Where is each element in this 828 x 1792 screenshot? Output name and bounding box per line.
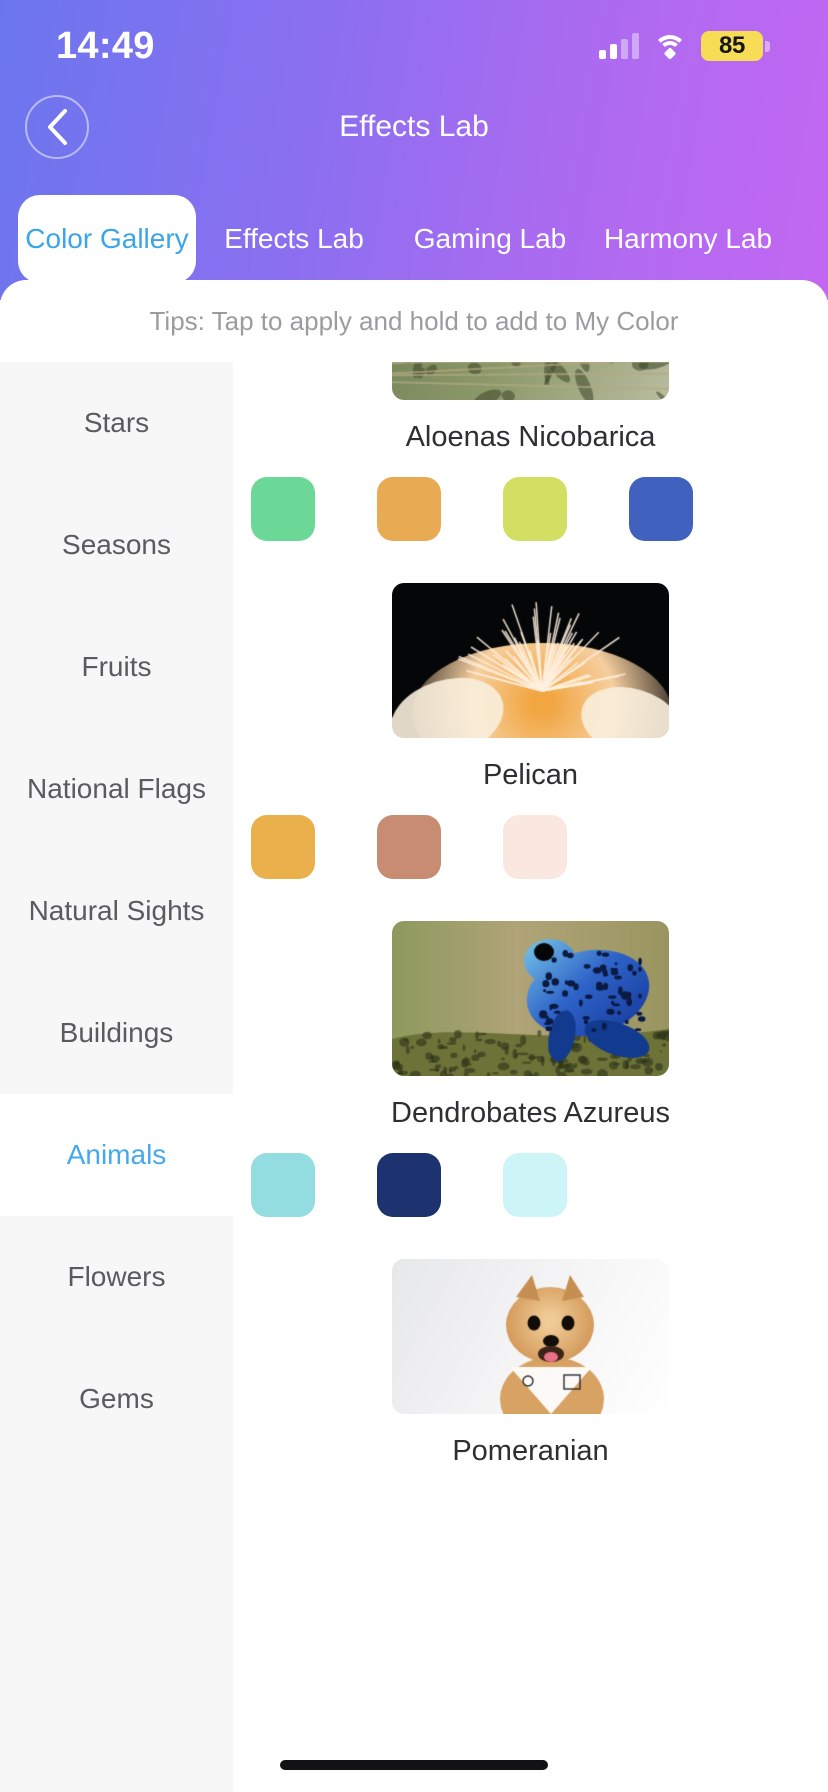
sidebar-item-natural-sights[interactable]: Natural Sights: [0, 850, 233, 972]
wifi-icon: [653, 33, 687, 59]
nav-bar: Effects Lab: [0, 95, 828, 163]
color-swatch[interactable]: [629, 477, 693, 541]
status-indicators: 85: [599, 31, 770, 61]
sidebar-item-gems[interactable]: Gems: [0, 1338, 233, 1460]
home-indicator: [280, 1760, 548, 1770]
tips-text: Tips: Tap to apply and hold to add to My…: [0, 280, 828, 362]
thumbnail-clip: [233, 362, 828, 400]
battery-percent: 85: [719, 32, 745, 60]
palette-name: Aloenas Nicobarica: [233, 421, 828, 454]
sidebar-item-national-flags[interactable]: National Flags: [0, 728, 233, 850]
color-swatch[interactable]: [251, 815, 315, 879]
color-swatch[interactable]: [377, 477, 441, 541]
tab-color-gallery[interactable]: Color Gallery: [18, 195, 196, 283]
sidebar-item-animals[interactable]: Animals: [0, 1094, 233, 1216]
palette-group-dendrobates-azureus: Dendrobates Azureus: [233, 921, 828, 1217]
color-swatch[interactable]: [503, 815, 567, 879]
content-sheet: Tips: Tap to apply and hold to add to My…: [0, 280, 828, 1792]
battery-icon: 85: [701, 31, 770, 61]
blue-poison-dart-frog-photo[interactable]: [392, 921, 669, 1076]
color-swatch[interactable]: [503, 477, 567, 541]
swatch-row: [233, 1153, 828, 1217]
cellular-signal-icon: [599, 33, 639, 59]
sidebar-item-stars[interactable]: Stars: [0, 362, 233, 484]
color-swatch[interactable]: [377, 815, 441, 879]
status-clock: 14:49: [56, 25, 155, 68]
tab-effects-lab[interactable]: Effects Lab: [196, 195, 392, 283]
palette-name: Pelican: [233, 759, 828, 792]
gallery-body: Stars Seasons Fruits National Flags Natu…: [0, 362, 828, 1792]
tab-bar: Color Gallery Effects Lab Gaming Lab Har…: [0, 195, 828, 283]
sidebar-item-flowers[interactable]: Flowers: [0, 1216, 233, 1338]
palette-list[interactable]: Aloenas Nicobarica Pelican: [233, 362, 828, 1792]
color-swatch[interactable]: [251, 477, 315, 541]
pomeranian-dog-photo[interactable]: [392, 1259, 669, 1414]
palette-name: Dendrobates Azureus: [233, 1097, 828, 1130]
color-swatch[interactable]: [251, 1153, 315, 1217]
palette-group-pomeranian: Pomeranian: [233, 1259, 828, 1468]
tab-gaming-lab[interactable]: Gaming Lab: [392, 195, 588, 283]
sidebar-item-buildings[interactable]: Buildings: [0, 972, 233, 1094]
palette-group-aloenas-nicobarica: Aloenas Nicobarica: [233, 362, 828, 541]
color-swatch[interactable]: [503, 1153, 567, 1217]
color-swatch[interactable]: [377, 1153, 441, 1217]
palette-group-pelican: Pelican: [233, 583, 828, 879]
page-title: Effects Lab: [0, 95, 828, 159]
swatch-row: [233, 477, 828, 541]
category-sidebar[interactable]: Stars Seasons Fruits National Flags Natu…: [0, 362, 233, 1792]
swatch-row: [233, 815, 828, 879]
nicobar-pigeon-photo[interactable]: [392, 362, 669, 400]
sidebar-item-seasons[interactable]: Seasons: [0, 484, 233, 606]
pelican-photo[interactable]: [392, 583, 669, 738]
status-bar: 14:49 85: [0, 0, 828, 92]
tab-harmony-lab[interactable]: Harmony Lab: [588, 195, 788, 283]
palette-name: Pomeranian: [233, 1435, 828, 1468]
app-header: 14:49 85 Effects Lab Color Gallery: [0, 0, 828, 300]
sidebar-item-fruits[interactable]: Fruits: [0, 606, 233, 728]
